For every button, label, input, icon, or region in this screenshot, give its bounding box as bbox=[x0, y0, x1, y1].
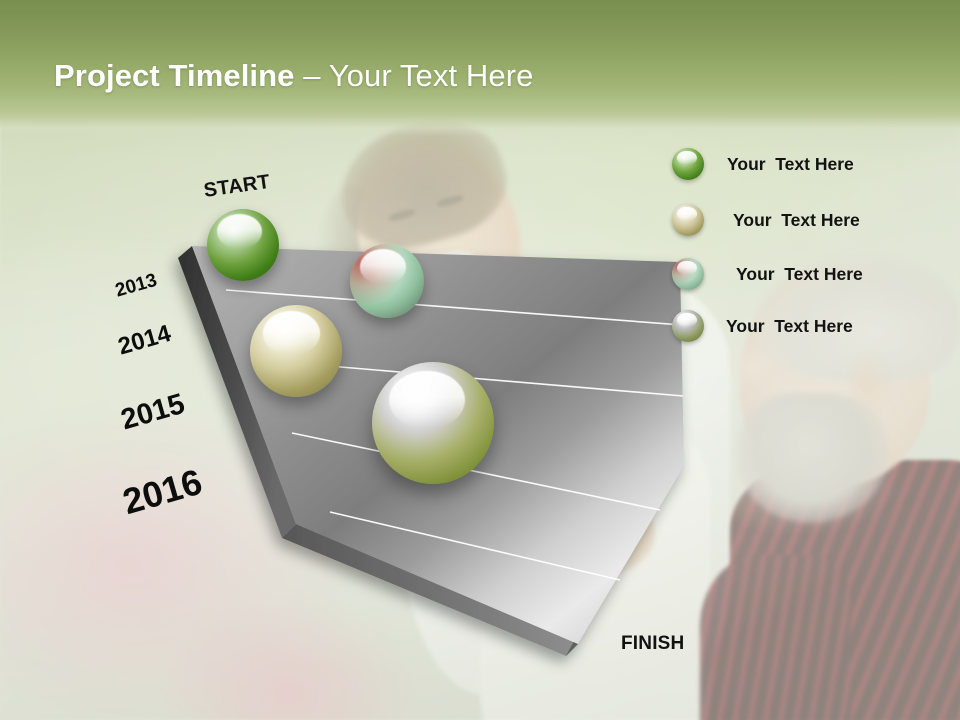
legend-label-4: Your Text Here bbox=[726, 316, 853, 337]
finish-label: FINISH bbox=[621, 633, 684, 655]
page-title-rest: – Your Text Here bbox=[295, 58, 534, 93]
page-title-bold: Project Timeline bbox=[54, 58, 295, 93]
legend-item-3[interactable]: Your Text Here bbox=[672, 258, 952, 290]
legend-bullet-icon-3 bbox=[672, 258, 704, 290]
legend-label-3: Your Text Here bbox=[736, 264, 863, 285]
legend-bullet-icon-1 bbox=[672, 148, 704, 180]
page-title: Project Timeline – Your Text Here bbox=[54, 58, 533, 94]
legend-label-2: Your Text Here bbox=[733, 210, 860, 231]
milestone-sphere-2014[interactable] bbox=[350, 244, 424, 318]
legend-bullet-icon-2 bbox=[672, 204, 704, 236]
legend-list: Your Text Here Your Text Here Your Text … bbox=[672, 148, 952, 366]
milestone-sphere-2016[interactable] bbox=[372, 362, 494, 484]
legend-label-1: Your Text Here bbox=[727, 154, 854, 175]
legend-item-4[interactable]: Your Text Here bbox=[672, 310, 952, 342]
legend-item-1[interactable]: Your Text Here bbox=[672, 148, 952, 180]
legend-bullet-icon-4 bbox=[672, 310, 704, 342]
legend-item-2[interactable]: Your Text Here bbox=[672, 204, 952, 236]
slide-canvas: START FINISH 2013 2014 2015 2016 Project… bbox=[0, 0, 960, 720]
milestone-sphere-2015[interactable] bbox=[250, 305, 342, 397]
milestone-sphere-2013[interactable] bbox=[207, 209, 279, 281]
